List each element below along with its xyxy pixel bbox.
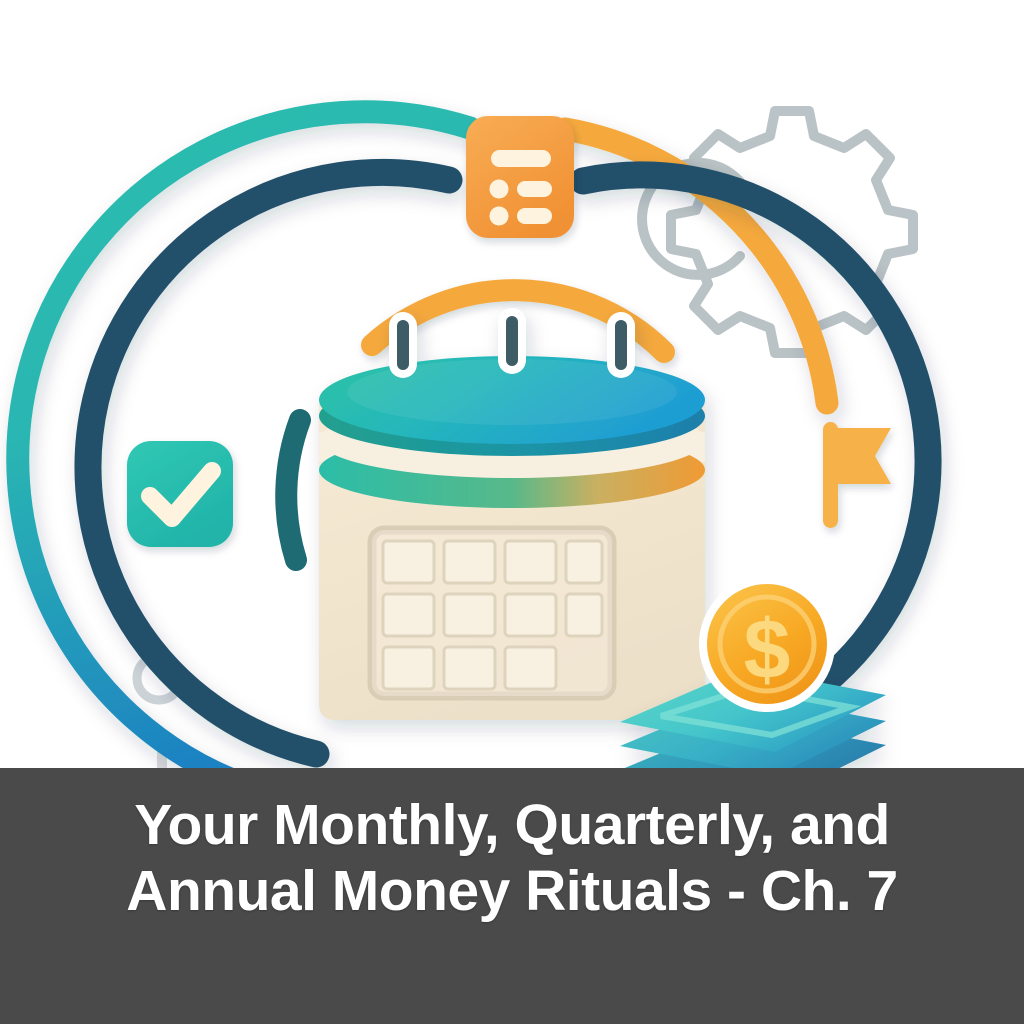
page-title: Your Monthly, Quarterly, and Annual Mone… [86,792,937,924]
title-banner: Your Monthly, Quarterly, and Annual Mone… [0,768,1024,1024]
coin-dollar-symbol: $ [744,602,791,696]
check-badge-icon [127,441,233,547]
image-canvas: $ Your Monthly, Quarterly, and Annual Mo… [0,0,1024,1024]
calendar-grid [372,530,612,696]
coin-icon: $ [699,576,835,712]
calendar-illustration [319,308,705,720]
mid-ring-navy-tick [286,420,300,560]
checklist-icon [466,116,574,238]
flag-icon [823,422,891,528]
gear-icon [642,111,913,353]
